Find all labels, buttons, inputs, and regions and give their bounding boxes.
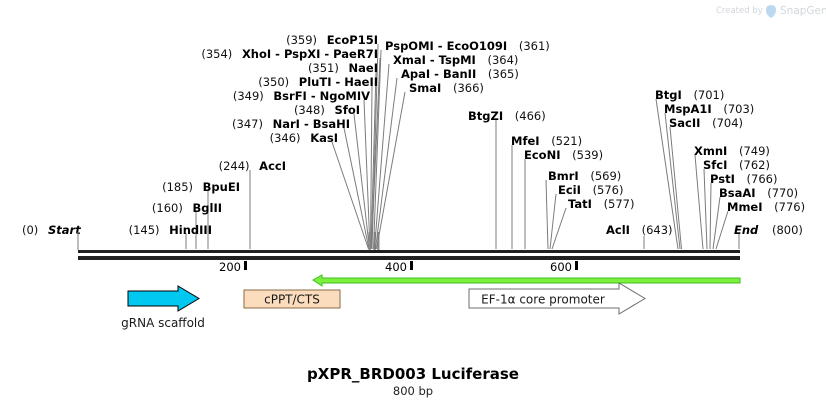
end-label: End <box>734 223 759 237</box>
enzyme-label-row[interactable]: (351) NaeI <box>308 61 378 75</box>
enzyme-text-bmri: BmrI (569) <box>548 169 621 183</box>
enzyme-text-mspa1i: MspA1I (703) <box>664 102 754 116</box>
enzyme-label-row[interactable]: (349) BsrFI - NgoMIV <box>233 89 370 103</box>
enzyme-text-sfci: SfcI (762) <box>703 158 770 172</box>
enzyme-label-row[interactable]: (350) PluTI - HaeII <box>258 75 378 89</box>
enzyme-text-bsrfi: (349) BsrFI - NgoMIV <box>233 89 370 103</box>
enzyme-text-xmai: XmaI - TspMI (364) <box>393 53 518 67</box>
cppt-cts-label: cPPT/CTS <box>264 293 320 307</box>
enzyme-labels-left: (359) EcoP15I (354) XhoI - PspXI - PaeR7… <box>129 33 378 237</box>
enzyme-position: (569) <box>590 169 621 183</box>
enzyme-text-ecop15i: (359) EcoP15I <box>286 33 378 47</box>
start-label: Start <box>48 223 81 237</box>
enzyme-name: MmeI <box>727 200 763 214</box>
enzyme-text-btgi: BtgI (701) <box>655 88 724 102</box>
enzyme-labels-right: PspOMI - EcoO109I (361) XmaI - TspMI (36… <box>385 39 673 237</box>
watermark-brand: SnapGene <box>780 5 826 17</box>
enzyme-name: PspOMI - EcoO109I <box>385 39 507 53</box>
enzyme-name: EcoNI <box>524 148 560 162</box>
enzyme-position: (354) <box>201 47 232 61</box>
tick-label: 200 <box>219 260 241 274</box>
ruler-tick-400: 400 <box>385 260 413 274</box>
enzyme-label-row[interactable]: TatI (577) <box>568 197 635 211</box>
enzyme-position: (521) <box>551 134 582 148</box>
enzyme-name: BtgZI <box>468 109 503 123</box>
enzyme-name: BsaAI <box>719 186 756 200</box>
grna-scaffold-arrow-icon <box>128 286 199 311</box>
enzyme-text-ecii: EciI (576) <box>558 183 624 197</box>
enzyme-text-bsaai: BsaAI (770) <box>719 186 798 200</box>
start-position: (0) <box>22 223 38 237</box>
enzyme-name: PstI <box>710 172 735 186</box>
enzyme-label-row[interactable]: BtgZI (466) <box>468 109 546 123</box>
enzyme-label-row[interactable]: SfcI (762) <box>703 158 770 172</box>
start-marker: (0) Start <box>22 223 81 250</box>
watermark-prefix: Created by <box>716 6 763 16</box>
enzyme-text-psti: PstI (766) <box>710 172 777 186</box>
enzyme-position: (244) <box>219 159 250 173</box>
enzyme-name: SfoI <box>335 103 360 117</box>
enzyme-name: XmaI - TspMI <box>393 53 476 67</box>
enzyme-label-row[interactable]: (185) BpuEI <box>162 180 240 194</box>
enzyme-position: (346) <box>270 131 301 145</box>
enzyme-name: HindIII <box>169 223 212 237</box>
enzyme-position: (350) <box>258 75 289 89</box>
page-title: pXPR_BRD003 Luciferase <box>307 365 519 383</box>
feature-cppt-cts[interactable]: cPPT/CTS <box>244 290 340 308</box>
enzyme-name: MspA1I <box>664 102 712 116</box>
enzyme-position: (348) <box>294 103 325 117</box>
ruler-tick-600: 600 <box>550 260 578 274</box>
tick-mark <box>410 261 413 270</box>
enzyme-label-row[interactable]: (244) AccI <box>219 159 286 173</box>
enzyme-label-row[interactable]: BmrI (569) <box>548 169 621 183</box>
enzyme-label-row[interactable]: (348) SfoI <box>294 103 360 117</box>
end-position: (800) <box>772 223 803 237</box>
enzyme-text-bglii: (160) BglII <box>152 201 222 215</box>
tick-label: 600 <box>550 260 572 274</box>
enzyme-name: ApaI - BanII <box>401 67 476 81</box>
enzyme-name: MfeI <box>511 134 540 148</box>
green-arrow-left <box>313 275 740 286</box>
green-feature-bar[interactable] <box>313 275 740 286</box>
enzyme-name: PluTI - HaeII <box>299 75 378 89</box>
tick-mark <box>575 261 578 270</box>
enzyme-text-tati: TatI (577) <box>568 197 635 211</box>
feature-grna-scaffold[interactable]: gRNA scaffold <box>121 286 205 330</box>
backbone-line-top <box>78 250 740 253</box>
enzyme-label-row[interactable]: MmeI (776) <box>727 200 805 214</box>
enzyme-label-row[interactable]: PspOMI - EcoO109I (361) <box>385 39 550 53</box>
tick-mark <box>244 261 247 270</box>
enzyme-position: (762) <box>739 158 770 172</box>
feature-ef1a-promoter[interactable]: EF-1α core promoter <box>469 283 645 314</box>
enzyme-name: BpuEI <box>203 180 240 194</box>
enzyme-position: (347) <box>232 117 263 131</box>
enzyme-name: KasI <box>310 131 338 145</box>
enzyme-label-row[interactable]: ApaI - BanII (365) <box>401 67 519 81</box>
ruler: 200 400 600 <box>219 260 578 274</box>
enzyme-text-naei: (351) NaeI <box>308 61 378 75</box>
enzyme-position: (364) <box>487 53 518 67</box>
enzyme-position: (349) <box>233 89 264 103</box>
enzyme-position: (766) <box>747 172 778 186</box>
enzyme-label-row[interactable]: XmnI (749) <box>694 144 770 158</box>
enzyme-text-mfei: MfeI (521) <box>511 134 582 148</box>
enzyme-label-row[interactable]: (346) KasI <box>270 131 338 145</box>
enzyme-label-row[interactable]: MfeI (521) <box>511 134 582 148</box>
enzyme-text-apai: ApaI - BanII (365) <box>401 67 519 81</box>
enzyme-name: SfcI <box>703 158 727 172</box>
enzyme-position: (366) <box>453 81 484 95</box>
enzyme-labels-far-right: BtgI (701) MspA1I (703) SacII (704) XmnI <box>655 88 805 214</box>
enzyme-label-row[interactable]: (145) HindIII <box>129 223 212 237</box>
enzyme-name: TatI <box>568 197 592 211</box>
enzyme-text-nari: (347) NarI - BsaHI <box>232 117 350 131</box>
enzyme-position: (359) <box>286 33 317 47</box>
enzyme-position: (185) <box>162 180 193 194</box>
enzyme-name: BglII <box>193 201 223 215</box>
enzyme-text-xmni: XmnI (749) <box>694 144 770 158</box>
enzyme-name: XmnI <box>694 144 727 158</box>
enzyme-name: SacII <box>669 116 700 130</box>
sequence-backbone <box>78 250 740 260</box>
enzyme-position: (361) <box>519 39 550 53</box>
enzyme-name: BmrI <box>548 169 579 183</box>
enzyme-position: (701) <box>693 88 724 102</box>
enzyme-text-pspomi: PspOMI - EcoO109I (361) <box>385 39 550 53</box>
enzyme-label-row[interactable]: (359) EcoP15I <box>286 33 378 47</box>
enzyme-position: (577) <box>604 197 635 211</box>
enzyme-label-row[interactable]: PstI (766) <box>710 172 777 186</box>
enzyme-name: XhoI - PspXI - PaeR7I <box>242 47 378 61</box>
enzyme-text-kasi: (346) KasI <box>270 131 338 145</box>
enzyme-position: (776) <box>774 200 805 214</box>
backbone-line-bottom <box>78 256 740 260</box>
enzyme-label-row[interactable]: SmaI (366) <box>409 81 484 95</box>
enzyme-position: (770) <box>767 186 798 200</box>
enzyme-name: BsrFI - NgoMIV <box>273 89 370 103</box>
enzyme-label-row[interactable]: XmaI - TspMI (364) <box>393 53 518 67</box>
grna-scaffold-label: gRNA scaffold <box>121 316 205 330</box>
enzyme-text-xhoi: (354) XhoI - PspXI - PaeR7I <box>201 47 378 61</box>
enzyme-name: AccI <box>259 159 286 173</box>
enzyme-text-mmei: MmeI (776) <box>727 200 805 214</box>
ef1a-promoter-label: EF-1α core promoter <box>481 293 605 307</box>
enzyme-label-row[interactable]: EciI (576) <box>558 183 624 197</box>
enzyme-text-acci: (244) AccI <box>219 159 286 173</box>
enzyme-text-sacii: SacII (704) <box>669 116 743 130</box>
enzyme-text-econi: EcoNI (539) <box>524 148 603 162</box>
snapgene-leaf-icon <box>766 5 776 18</box>
enzyme-text-smai: SmaI (366) <box>409 81 484 95</box>
enzyme-label-row[interactable]: SacII (704) <box>669 116 743 130</box>
enzyme-text-btgzi: BtgZI (466) <box>468 109 546 123</box>
enzyme-name: AclI <box>606 223 630 237</box>
enzyme-label-row[interactable]: (160) BglII <box>152 201 222 215</box>
enzyme-position: (466) <box>515 109 546 123</box>
enzyme-label-row[interactable]: MspA1I (703) <box>664 102 754 116</box>
enzyme-position: (576) <box>593 183 624 197</box>
enzyme-name: EciI <box>558 183 581 197</box>
snapgene-watermark: Created by SnapGene <box>716 5 826 18</box>
enzyme-label-row[interactable]: EcoNI (539) <box>524 148 603 162</box>
enzyme-label-row[interactable]: AclI (643) <box>606 223 673 237</box>
enzyme-label-row[interactable]: BtgI (701) <box>655 88 724 102</box>
enzyme-position: (643) <box>642 223 673 237</box>
plasmid-title-block: pXPR_BRD003 Luciferase 800 bp <box>307 365 519 398</box>
enzyme-text-hindiii: (145) HindIII <box>129 223 212 237</box>
enzyme-position: (704) <box>712 116 743 130</box>
enzyme-text-pluti: (350) PluTI - HaeII <box>258 75 378 89</box>
enzyme-name: BtgI <box>655 88 682 102</box>
enzyme-position: (351) <box>308 61 339 75</box>
enzyme-text-bpuei: (185) BpuEI <box>162 180 240 194</box>
end-marker: End (800) <box>734 223 803 237</box>
enzyme-name: NaeI <box>349 61 378 75</box>
enzyme-text-sfoi: (348) SfoI <box>294 103 360 117</box>
plasmid-length: 800 bp <box>393 384 433 398</box>
enzyme-position: (749) <box>739 144 770 158</box>
enzyme-position: (539) <box>572 148 603 162</box>
enzyme-position: (365) <box>488 67 519 81</box>
plasmid-map-canvas: Created by SnapGene <box>0 0 826 404</box>
tick-label: 400 <box>385 260 407 274</box>
enzyme-position: (160) <box>152 201 183 215</box>
enzyme-name: NarI - BsaHI <box>273 117 350 131</box>
enzyme-label-row[interactable]: BsaAI (770) <box>719 186 798 200</box>
enzyme-name: SmaI <box>409 81 441 95</box>
enzyme-label-row[interactable]: (354) XhoI - PspXI - PaeR7I <box>201 47 378 61</box>
enzyme-name: EcoP15I <box>327 33 378 47</box>
enzyme-text-acli: AclI (643) <box>606 223 673 237</box>
enzyme-label-row[interactable]: (347) NarI - BsaHI <box>232 117 350 131</box>
enzyme-position: (145) <box>129 223 160 237</box>
enzyme-position: (703) <box>723 102 754 116</box>
plasmid-map: Created by SnapGene <box>0 0 826 404</box>
ruler-tick-200: 200 <box>219 260 247 274</box>
